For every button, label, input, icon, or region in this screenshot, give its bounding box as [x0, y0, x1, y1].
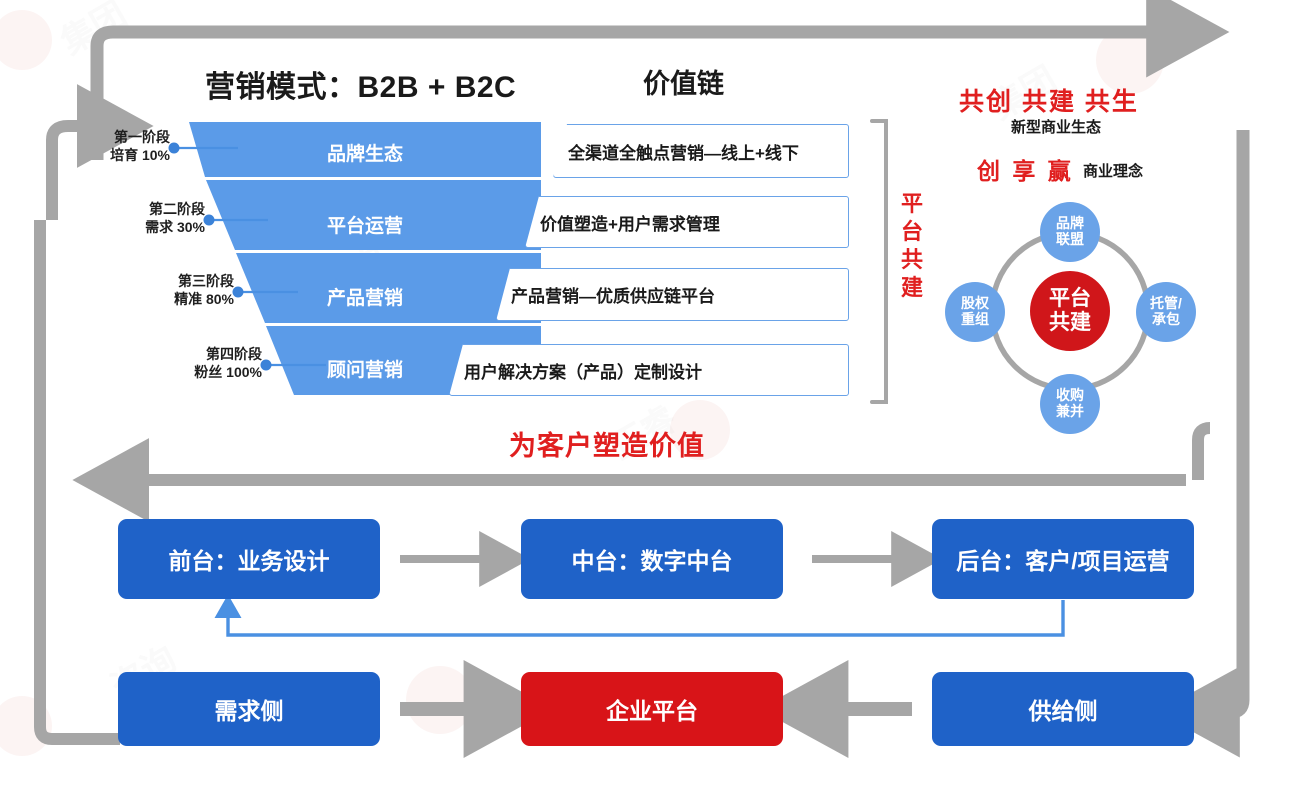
circle-node-left-line2: 重组	[961, 312, 989, 328]
stage-note-2-line1: 第二阶段	[45, 200, 205, 218]
stage-note-3-line2: 精准 80%	[74, 290, 234, 308]
circle-node-right-line1: 托管/	[1150, 296, 1182, 312]
stage-note-4-line2: 粉丝 100%	[100, 363, 262, 381]
value-chain-text-2: 价值塑造+用户需求管理	[526, 210, 720, 235]
stage-note-4: 第四阶段 粉丝 100%	[100, 345, 262, 382]
outer-right-elbow	[1198, 428, 1210, 480]
circle-node-left-line1: 股权	[961, 296, 989, 312]
value-chain-box-3[interactable]: 产品营销—优质供应链平台	[496, 268, 849, 321]
bottom-box-demand-label: 需求侧	[215, 692, 284, 726]
funnel-label-4: 顾问营销	[327, 355, 403, 382]
middle-box-back[interactable]: 后台：客户/项目运营	[932, 519, 1194, 599]
stage-note-4-line1: 第四阶段	[100, 345, 262, 363]
stage-note-3-line1: 第三阶段	[74, 272, 234, 290]
value-chain-box-4[interactable]: 用户解决方案（产品）定制设计	[449, 344, 849, 396]
circle-node-right[interactable]: 托管/ 承包	[1136, 282, 1196, 342]
circle-node-top-line2: 联盟	[1056, 232, 1084, 248]
bottom-box-platform-label: 企业平台	[606, 692, 698, 726]
page-title-value-chain: 价值链	[643, 62, 724, 101]
circle-node-bottom-line1: 收购	[1056, 388, 1084, 404]
slogan-subtitle: 新型商业生态	[1011, 116, 1101, 137]
circle-node-top[interactable]: 品牌 联盟	[1040, 202, 1100, 262]
bottom-box-supply[interactable]: 供给侧	[932, 672, 1194, 746]
stage-note-1-line1: 第一阶段	[10, 128, 170, 146]
vertical-char-4: 建	[899, 274, 925, 302]
connector-dot-4	[261, 360, 272, 371]
circle-node-center[interactable]: 平台 共建	[1030, 271, 1110, 351]
vertical-char-2: 台	[899, 218, 925, 246]
stage-note-1-line2: 培育 10%	[10, 146, 170, 164]
circle-node-top-line1: 品牌	[1056, 216, 1084, 232]
idea-label: 商业理念	[1083, 160, 1143, 181]
page-title-marketing-mode: 营销模式：B2B + B2C	[205, 62, 516, 106]
funnel-label-1: 品牌生态	[327, 139, 403, 166]
svg-text:集团: 集团	[54, 0, 133, 62]
value-chain-text-4: 用户解决方案（产品）定制设计	[450, 358, 702, 383]
funnel-label-2: 平台运营	[327, 211, 403, 238]
bottom-box-platform[interactable]: 企业平台	[521, 672, 783, 746]
bottom-box-demand[interactable]: 需求侧	[118, 672, 380, 746]
value-chain-box-1[interactable]: 全渠道全触点营销—线上+线下	[553, 124, 849, 178]
stage-note-3: 第三阶段 精准 80%	[74, 272, 234, 309]
connector-dot-3	[233, 287, 244, 298]
middle-box-front-label: 前台：业务设计	[169, 542, 330, 576]
connector-dot-1	[169, 143, 180, 154]
circle-node-right-line2: 承包	[1150, 312, 1182, 328]
circle-node-bottom-line2: 兼并	[1056, 404, 1084, 420]
value-chain-text-1: 全渠道全触点营销—线上+线下	[554, 139, 799, 164]
middle-box-front[interactable]: 前台：业务设计	[118, 519, 380, 599]
connector-dot-2	[204, 215, 215, 226]
vertical-char-3: 共	[899, 246, 925, 274]
idea-red-text: 创 享 赢	[977, 152, 1074, 186]
vertical-char-1: 平	[899, 190, 925, 218]
feedback-loop-line	[228, 600, 1063, 635]
circle-node-left[interactable]: 股权 重组	[945, 282, 1005, 342]
value-chain-bracket	[872, 121, 886, 402]
value-chain-box-2[interactable]: 价值塑造+用户需求管理	[525, 196, 849, 248]
middle-box-middle[interactable]: 中台：数字中台	[521, 519, 783, 599]
bottom-box-supply-label: 供给侧	[1029, 692, 1098, 726]
circle-node-center-line2: 共建	[1049, 311, 1091, 335]
value-chain-text-3: 产品营销—优质供应链平台	[497, 282, 715, 307]
diagram-canvas: 集团 咨询 正睿 集团 咨询	[0, 0, 1300, 786]
middle-box-back-label: 后台：客户/项目运营	[956, 542, 1169, 576]
outer-right-loop	[1206, 130, 1243, 712]
circle-node-center-line1: 平台	[1049, 287, 1091, 311]
vertical-label-platform: 平 台 共 建	[899, 190, 925, 303]
circle-node-bottom[interactable]: 收购 兼并	[1040, 374, 1100, 434]
stage-note-1: 第一阶段 培育 10%	[10, 128, 170, 165]
stage-note-2-line2: 需求 30%	[45, 218, 205, 236]
center-caption: 为客户塑造价值	[509, 424, 705, 463]
funnel-label-3: 产品营销	[327, 283, 403, 310]
slogan-cocreate: 共创 共建 共生	[959, 82, 1139, 118]
middle-box-middle-label: 中台：数字中台	[572, 542, 733, 576]
stage-note-2: 第二阶段 需求 30%	[45, 200, 205, 237]
